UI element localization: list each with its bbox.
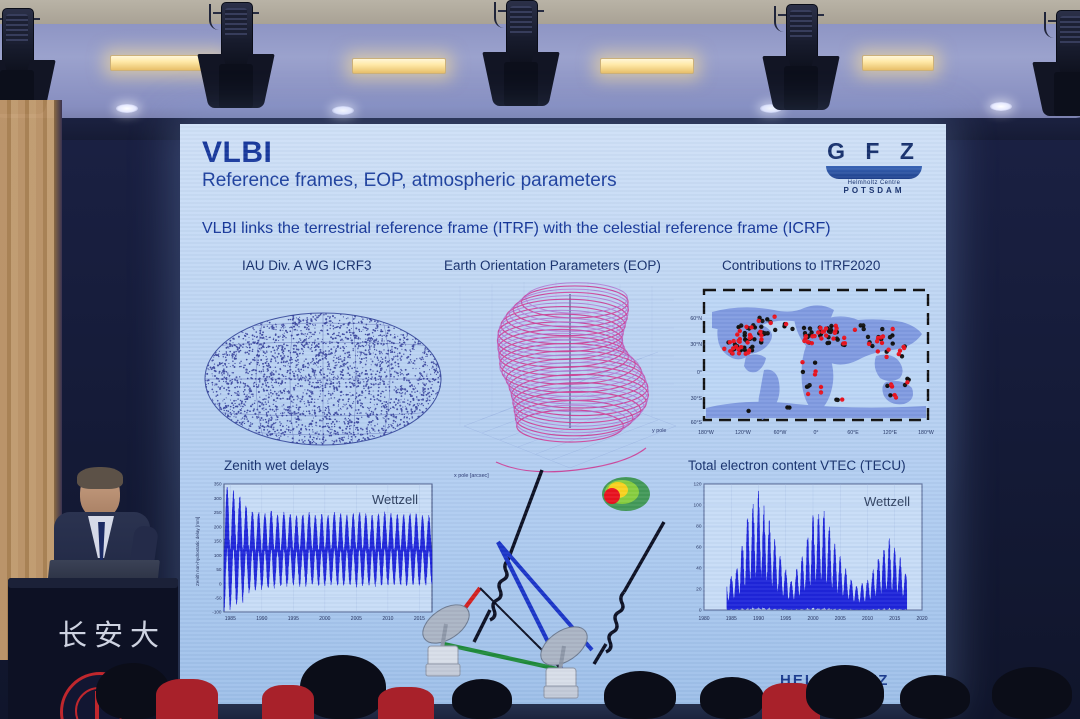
podium-institution-text: 长安大 xyxy=(58,612,166,654)
ceiling-light-tube xyxy=(600,58,694,74)
svg-text:30°S: 30°S xyxy=(691,396,703,402)
audience-red-coat xyxy=(378,687,434,719)
eop-polar-motion-plot: x pole [arcsec] y pole xyxy=(452,276,682,481)
svg-text:2010: 2010 xyxy=(862,616,873,622)
svg-text:-50: -50 xyxy=(215,595,222,600)
vtec-station-label: Wettzell xyxy=(864,494,910,509)
ceiling-downlight xyxy=(116,104,138,113)
lecture-hall-photo: VLBI Reference frames, EOP, atmospheric … xyxy=(0,0,1080,719)
stage-spotlight xyxy=(1040,10,1080,118)
eop-ylabel: y pole xyxy=(652,428,666,434)
svg-text:60°E: 60°E xyxy=(847,430,859,436)
zwd-ylabel: Zenith non-hydrostatic delay [mm] xyxy=(195,517,200,586)
svg-text:2015: 2015 xyxy=(889,616,900,622)
map-lat-ticks: 60°N30°N 0°30°S60°S xyxy=(690,316,702,426)
zenith-wet-delay-chart: -100-50050100150200250300350 19851990199… xyxy=(190,476,442,646)
audience-head xyxy=(900,675,970,719)
svg-text:100: 100 xyxy=(693,503,701,509)
svg-text:60°S: 60°S xyxy=(691,420,703,426)
section-title-eop: Earth Orientation Parameters (EOP) xyxy=(444,258,661,273)
section-title-zwd: Zenith wet delays xyxy=(224,458,329,473)
svg-text:50: 50 xyxy=(216,567,222,572)
svg-text:60: 60 xyxy=(696,545,702,551)
ceiling-downlight xyxy=(990,102,1012,111)
quasar-source xyxy=(602,477,650,511)
svg-text:150: 150 xyxy=(214,539,222,544)
svg-text:180°W: 180°W xyxy=(918,430,934,436)
audience-red-coat xyxy=(262,685,314,719)
svg-text:120: 120 xyxy=(693,482,701,488)
svg-text:200: 200 xyxy=(214,524,222,529)
svg-text:0°: 0° xyxy=(814,430,819,436)
audience-head xyxy=(992,667,1072,719)
svg-text:1995: 1995 xyxy=(780,616,791,622)
radio-telescope xyxy=(416,597,476,676)
stage-spotlight xyxy=(490,0,552,108)
svg-text:300: 300 xyxy=(214,496,222,501)
svg-text:0: 0 xyxy=(699,608,702,614)
svg-text:2000: 2000 xyxy=(319,616,330,622)
slide-subtitle: Reference frames, EOP, atmospheric param… xyxy=(202,170,617,192)
svg-text:250: 250 xyxy=(214,510,222,515)
svg-text:2005: 2005 xyxy=(351,616,362,622)
section-title-icrf3: IAU Div. A WG ICRF3 xyxy=(242,258,372,273)
icrf3-sky-plot xyxy=(198,304,448,454)
audience-head xyxy=(452,679,512,719)
svg-text:60°N: 60°N xyxy=(690,316,702,322)
svg-text:2000: 2000 xyxy=(807,616,818,622)
audience-head xyxy=(700,677,764,719)
svg-text:1980: 1980 xyxy=(698,616,709,622)
svg-text:-100: -100 xyxy=(212,610,222,615)
section-title-itrf: Contributions to ITRF2020 xyxy=(722,258,880,273)
audience-head xyxy=(806,665,884,719)
gfz-arc-shape xyxy=(826,166,922,179)
svg-text:40: 40 xyxy=(696,566,702,572)
svg-text:1985: 1985 xyxy=(225,616,236,622)
svg-text:20: 20 xyxy=(696,587,702,593)
ceiling-light-tube xyxy=(352,58,446,74)
svg-text:30°N: 30°N xyxy=(690,342,702,348)
svg-text:1985: 1985 xyxy=(726,616,737,622)
svg-text:120°E: 120°E xyxy=(883,430,898,436)
svg-text:60°W: 60°W xyxy=(774,430,787,436)
gfz-wordmark: G F Z xyxy=(822,138,926,165)
incoming-wavefront-ray xyxy=(594,522,664,664)
stage-spotlight xyxy=(770,4,832,112)
vlbi-telescope-diagram xyxy=(412,464,692,704)
svg-text:0: 0 xyxy=(219,581,222,586)
svg-text:180°W: 180°W xyxy=(698,430,714,436)
audience-head xyxy=(604,671,676,719)
svg-text:2020: 2020 xyxy=(916,616,927,622)
ceiling-downlight xyxy=(332,106,354,115)
itrf2020-station-map: 60°N30°N 0°30°S60°S 180°W120°W60°W 0°60°… xyxy=(690,284,935,444)
audience-red-coat xyxy=(156,679,218,719)
svg-text:1990: 1990 xyxy=(256,616,267,622)
svg-text:100: 100 xyxy=(214,553,222,558)
svg-text:2005: 2005 xyxy=(835,616,846,622)
gfz-logo-line2: POTSDAM xyxy=(822,186,926,195)
vtec-chart: 020406080100120 198019851990199520002005… xyxy=(680,476,938,648)
ceiling-light-tube xyxy=(862,55,934,71)
gfz-logo: G F Z Helmholtz Centre POTSDAM xyxy=(822,138,926,195)
svg-text:1990: 1990 xyxy=(753,616,764,622)
map-lon-ticks: 180°W120°W60°W 0°60°E120°E 180°W xyxy=(698,430,934,436)
projected-slide: VLBI Reference frames, EOP, atmospheric … xyxy=(180,124,946,704)
stage-spotlight xyxy=(205,2,267,110)
svg-text:120°W: 120°W xyxy=(735,430,751,436)
section-title-vtec: Total electron content VTEC (TECU) xyxy=(688,458,906,473)
svg-text:350: 350 xyxy=(214,482,222,487)
svg-text:0°: 0° xyxy=(697,370,702,376)
svg-text:2010: 2010 xyxy=(382,616,393,622)
slide-lead-text: VLBI links the terrestrial reference fra… xyxy=(202,220,831,238)
slide-title: VLBI xyxy=(202,136,272,170)
svg-text:80: 80 xyxy=(696,524,702,530)
svg-text:1995: 1995 xyxy=(288,616,299,622)
